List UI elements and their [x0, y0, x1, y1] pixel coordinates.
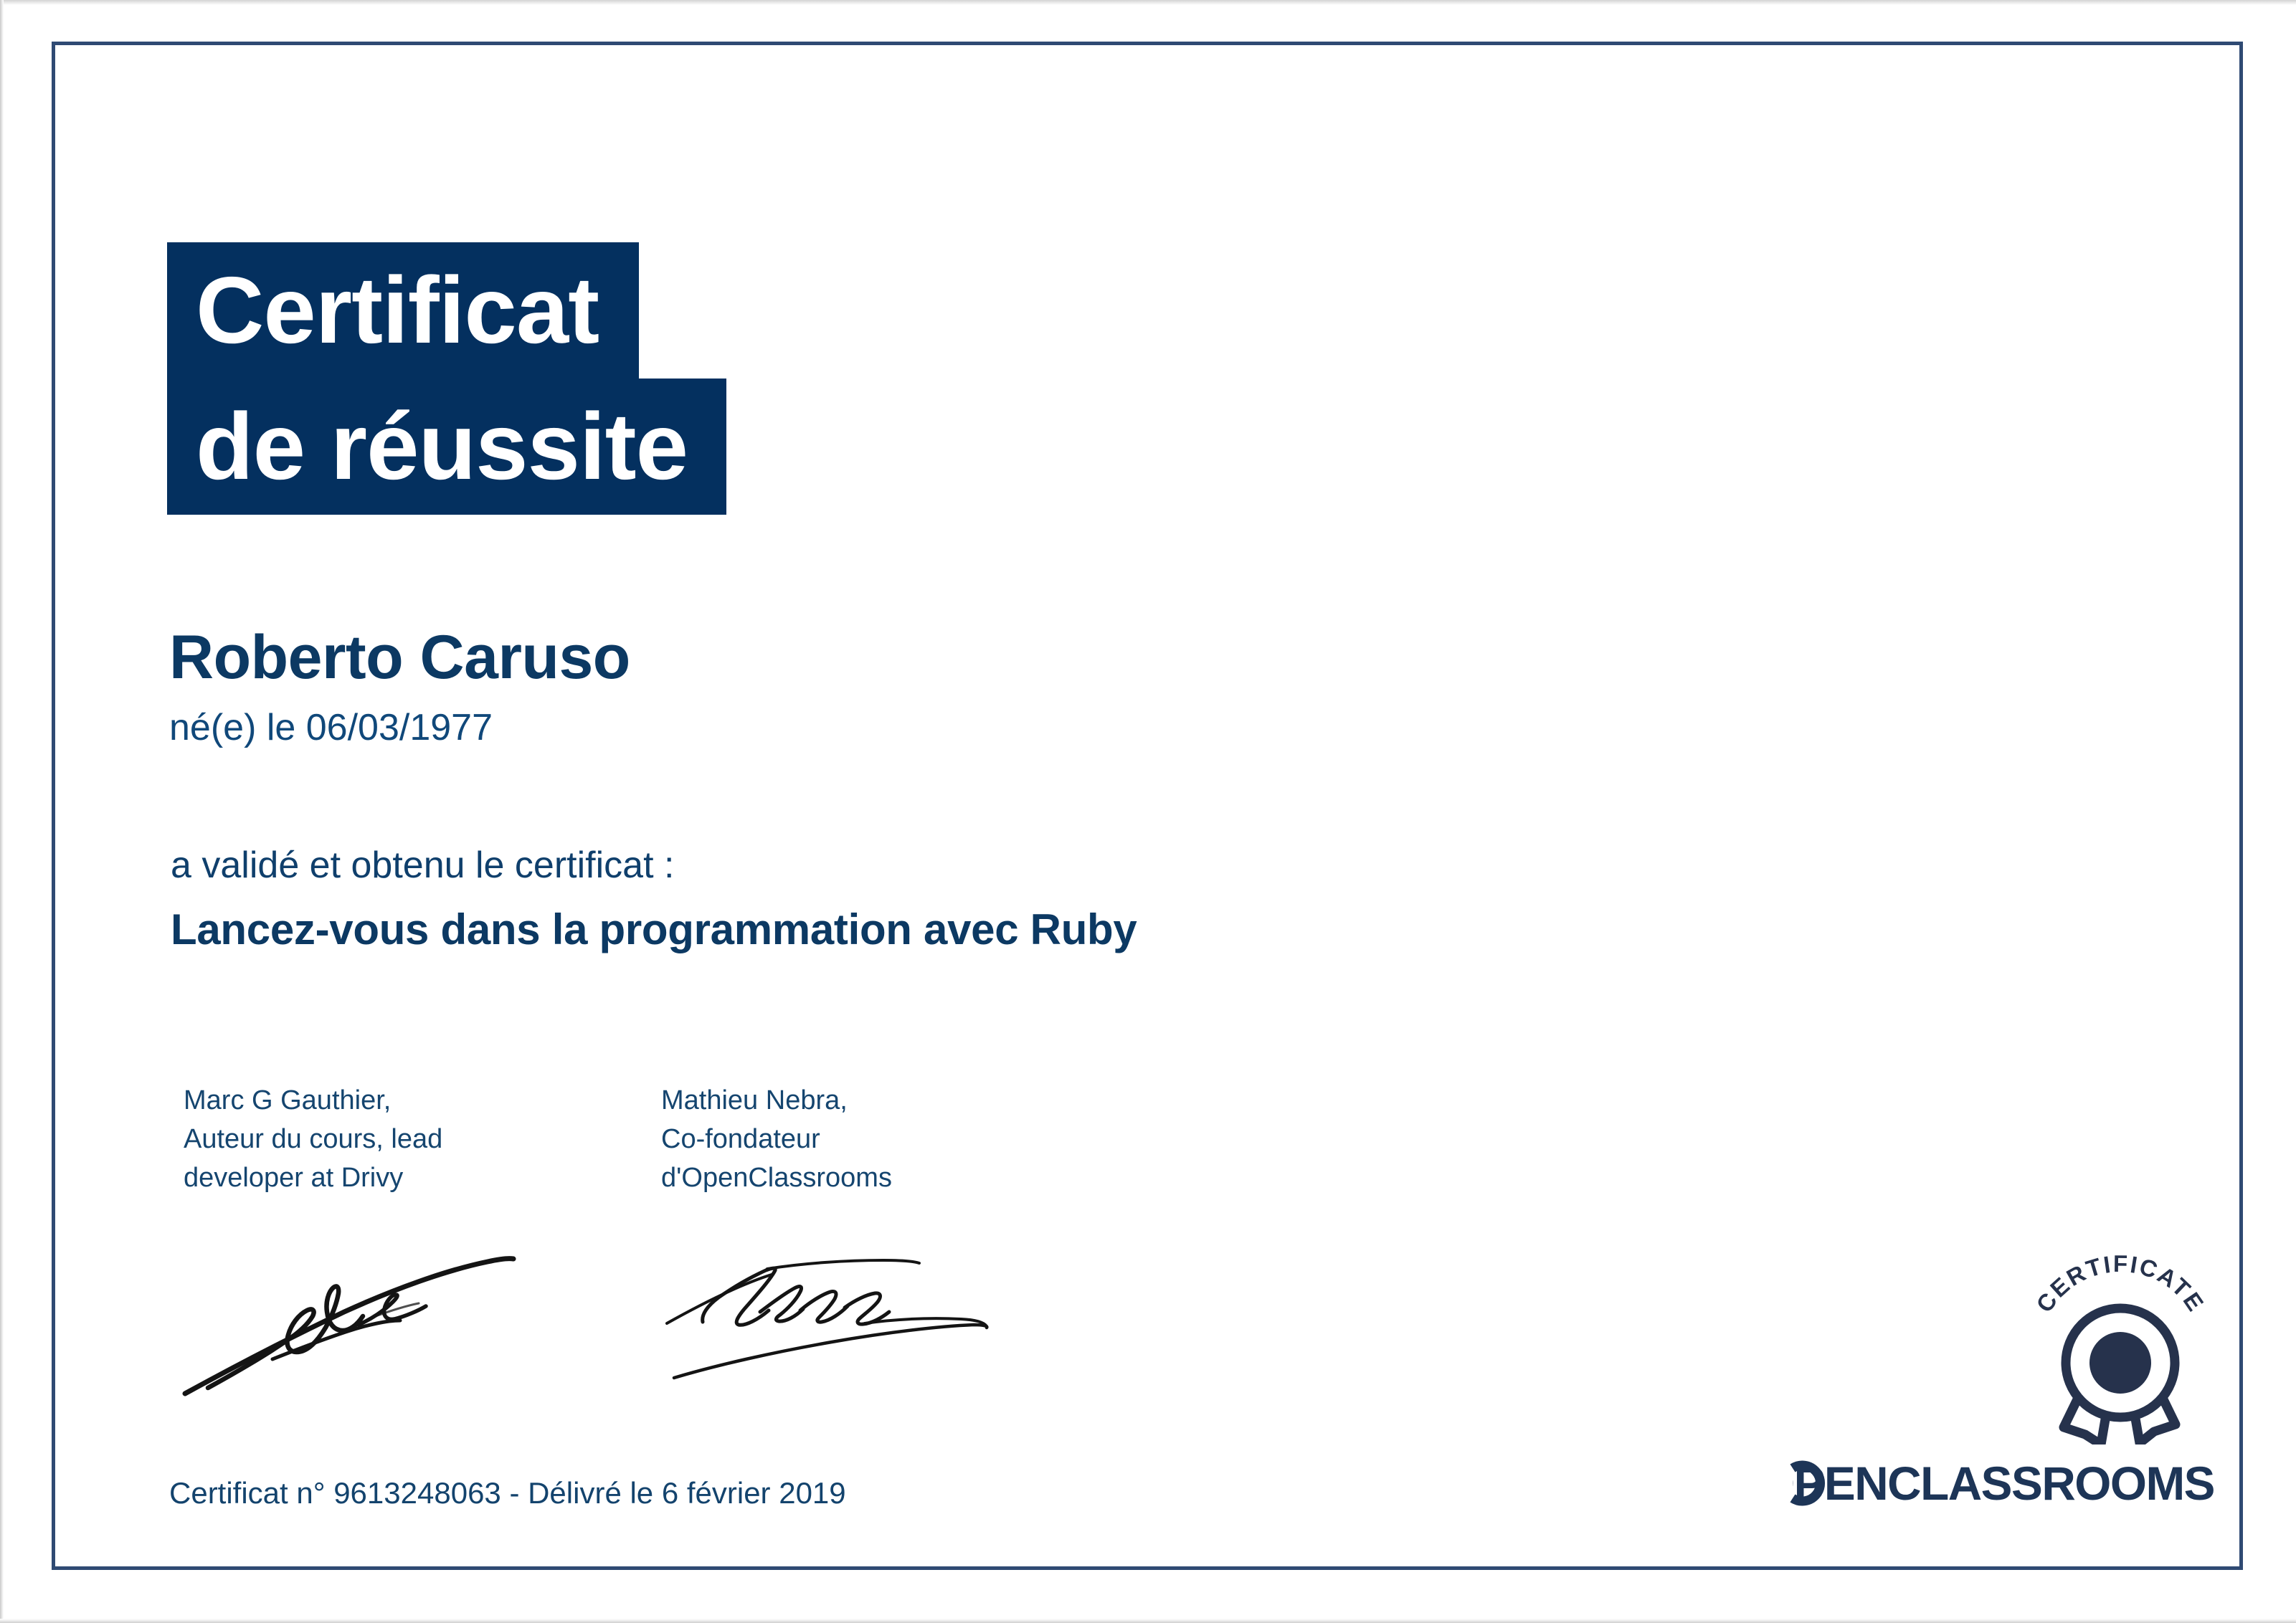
title-line-2: de réussite: [167, 379, 726, 515]
signatory-1-name: Marc G Gauthier,: [184, 1081, 442, 1120]
recipient-birth-date: né(e) le 06/03/1977: [169, 706, 493, 749]
signatory-2-title-line-1: Co-fondateur: [661, 1120, 892, 1158]
handwritten-signature-icon: [179, 1219, 516, 1398]
openclassrooms-logo: OPENCLASSROOMS: [1758, 1452, 2217, 1518]
award-ribbon-rosette-icon: CERTIFICATE: [2016, 1244, 2224, 1444]
signature-1: [179, 1219, 516, 1401]
signatory-2-title-line-2: d'OpenClassrooms: [661, 1158, 892, 1197]
signatory-1-title-line-2: developer at Drivy: [184, 1158, 442, 1197]
scan-edge-top: [0, 0, 2296, 5]
signatory-2-name: Mathieu Nebra,: [661, 1081, 892, 1120]
signatory-block-2: Mathieu Nebra, Co-fondateur d'OpenClassr…: [661, 1081, 892, 1197]
title-line-1: Certificat: [167, 242, 639, 379]
signature-2: [660, 1219, 997, 1401]
scan-edge-left: [0, 0, 4, 1623]
certificate-number-line: Certificat n° 9613248063 - Délivré le 6 …: [169, 1476, 846, 1510]
brand-wordmark-text: OPENCLASSROOMS: [1758, 1457, 2214, 1510]
signatory-block-1: Marc G Gauthier, Auteur du cours, lead d…: [184, 1081, 442, 1197]
handwritten-signature-icon: [660, 1219, 997, 1398]
scan-edge-bottom: [0, 1619, 2296, 1623]
recipient-name: Roberto Caruso: [169, 622, 630, 693]
certificate-title: Certificat de réussite: [167, 242, 956, 515]
signatory-1-title-line-1: Auteur du cours, lead: [184, 1120, 442, 1158]
certificate-badge: CERTIFICATE: [2016, 1244, 2224, 1448]
course-intro-text: a validé et obtenu le certificat :: [171, 844, 674, 887]
course-title: Lancez-vous dans la programmation avec R…: [171, 905, 1137, 954]
brand-wordmark: OPENCLASSROOMS: [1758, 1452, 2217, 1514]
